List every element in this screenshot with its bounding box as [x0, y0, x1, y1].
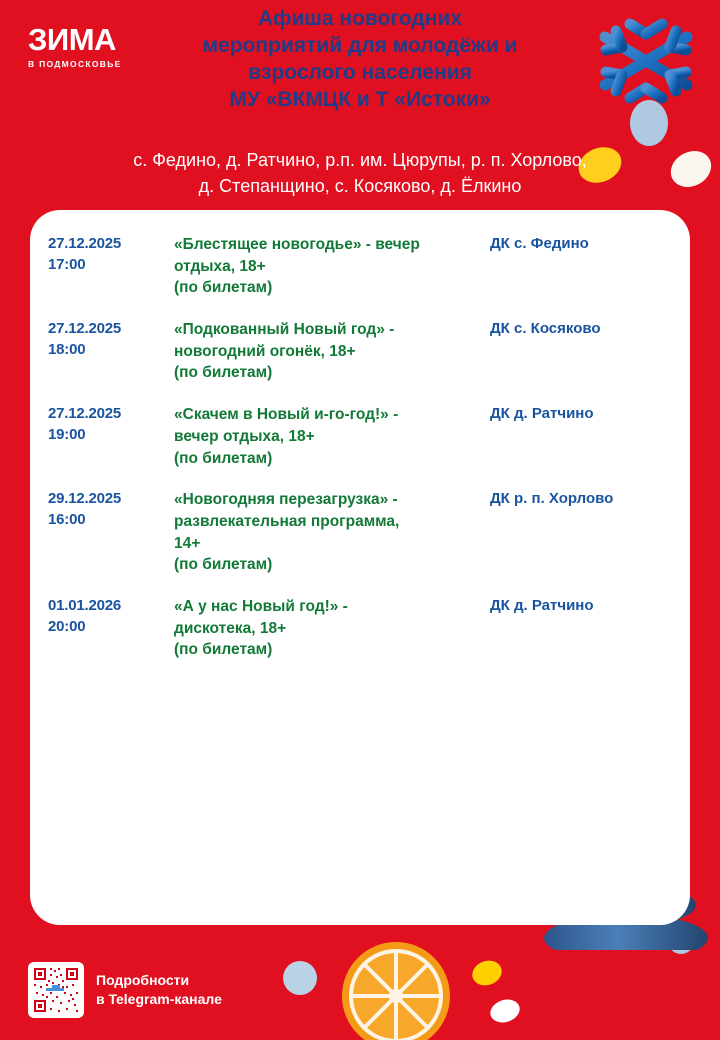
poster-root: ЗИМА В ПОДМОСКОВЬЕ Афиша новогодних меро… [0, 0, 720, 1040]
title-line-4: МУ «ВКМЦК и Т «Истоки» [150, 87, 570, 114]
row-time: 20:00 [48, 617, 166, 638]
row-venue: ДК р. п. Хорлово [490, 489, 672, 510]
schedule-card: 27.12.2025 17:00 «Блестящее новогодье» -… [30, 210, 690, 925]
snowflake-icon [590, 2, 702, 120]
event-line: отдыха, 18+ [174, 256, 476, 278]
row-venue: ДК д. Ратчино [490, 404, 672, 425]
title-line-3: взрослого населения [150, 60, 570, 87]
table-row: 27.12.2025 17:00 «Блестящее новогодье» -… [30, 222, 690, 307]
row-date: 27.12.2025 [48, 234, 166, 255]
title-line-1: Афиша новогодних [150, 6, 570, 33]
row-event: «Новогодняя перезагрузка» - развлекатель… [166, 489, 490, 576]
orange-slice-icon [340, 940, 452, 1040]
row-time: 16:00 [48, 510, 166, 531]
footer-text: Подробности в Telegram-канале [96, 971, 222, 1009]
event-line: (по билетам) [174, 448, 476, 470]
subtitle-line-2: д. Степанщино, с. Косяково, д. Ёлкино [40, 174, 680, 200]
row-venue: ДК д. Ратчино [490, 596, 672, 617]
event-line: дискотека, 18+ [174, 618, 476, 640]
confetti-ellipse-white-2 [487, 996, 522, 1026]
qr-code-icon[interactable] [28, 962, 84, 1018]
event-line: «Новогодняя перезагрузка» - [174, 489, 476, 511]
row-event: «Блестящее новогодье» - вечер отдыха, 18… [166, 234, 490, 299]
row-datetime: 27.12.2025 19:00 [48, 404, 166, 445]
row-date: 01.01.2026 [48, 596, 166, 617]
table-row: 01.01.2026 20:00 «А у нас Новый год!» - … [30, 584, 690, 669]
event-line: новогодний огонёк, 18+ [174, 341, 476, 363]
table-row: 29.12.2025 16:00 «Новогодняя перезагрузк… [30, 477, 690, 584]
event-line: (по билетам) [174, 554, 476, 576]
row-datetime: 01.01.2026 20:00 [48, 596, 166, 637]
table-row: 27.12.2025 18:00 «Подкованный Новый год»… [30, 307, 690, 392]
event-line: (по билетам) [174, 277, 476, 299]
row-event: «Скачем в Новый и-го-год!» - вечер отдых… [166, 404, 490, 469]
row-datetime: 27.12.2025 17:00 [48, 234, 166, 275]
event-line: (по билетам) [174, 362, 476, 384]
row-date: 27.12.2025 [48, 404, 166, 425]
row-time: 17:00 [48, 255, 166, 276]
event-line: «Скачем в Новый и-го-год!» - [174, 404, 476, 426]
schedule-rows: 27.12.2025 17:00 «Блестящее новогодье» -… [30, 222, 690, 669]
confetti-dot-blue-3 [668, 928, 694, 954]
row-time: 19:00 [48, 425, 166, 446]
row-venue: ДК с. Косяково [490, 319, 672, 340]
table-row: 27.12.2025 19:00 «Скачем в Новый и-го-го… [30, 392, 690, 477]
row-event: «А у нас Новый год!» - дискотека, 18+ (п… [166, 596, 490, 661]
event-line: вечер отдыха, 18+ [174, 426, 476, 448]
row-date: 29.12.2025 [48, 489, 166, 510]
event-line: «Блестящее новогодье» - вечер [174, 234, 476, 256]
event-line: (по билетам) [174, 639, 476, 661]
logo-zima: ЗИМА В ПОДМОСКОВЬЕ [28, 24, 146, 69]
event-line: «А у нас Новый год!» - [174, 596, 476, 618]
page-title: Афиша новогодних мероприятий для молодёж… [150, 6, 570, 114]
logo-tagline: В ПОДМОСКОВЬЕ [28, 59, 146, 69]
footer-line-2: в Telegram-канале [96, 990, 222, 1009]
subtitle-line-1: с. Федино, д. Ратчино, р.п. им. Цюрупы, … [40, 148, 680, 174]
row-datetime: 29.12.2025 16:00 [48, 489, 166, 530]
confetti-ellipse-yellow-2 [469, 957, 505, 990]
locations-subtitle: с. Федино, д. Ратчино, р.п. им. Цюрупы, … [40, 148, 680, 199]
row-event: «Подкованный Новый год» - новогодний ого… [166, 319, 490, 384]
event-line: развлекательная программа, [174, 511, 476, 533]
footer-telegram[interactable]: Подробности в Telegram-канале [28, 962, 222, 1018]
event-line: 14+ [174, 533, 476, 555]
logo-wordmark: ЗИМА [28, 24, 146, 55]
confetti-dot-blue [630, 100, 668, 146]
row-datetime: 27.12.2025 18:00 [48, 319, 166, 360]
footer-line-1: Подробности [96, 971, 222, 990]
confetti-dot-blue-2 [283, 961, 317, 995]
row-venue: ДК с. Федино [490, 234, 672, 255]
title-line-2: мероприятий для молодёжи и [150, 33, 570, 60]
row-time: 18:00 [48, 340, 166, 361]
event-line: «Подкованный Новый год» - [174, 319, 476, 341]
row-date: 27.12.2025 [48, 319, 166, 340]
